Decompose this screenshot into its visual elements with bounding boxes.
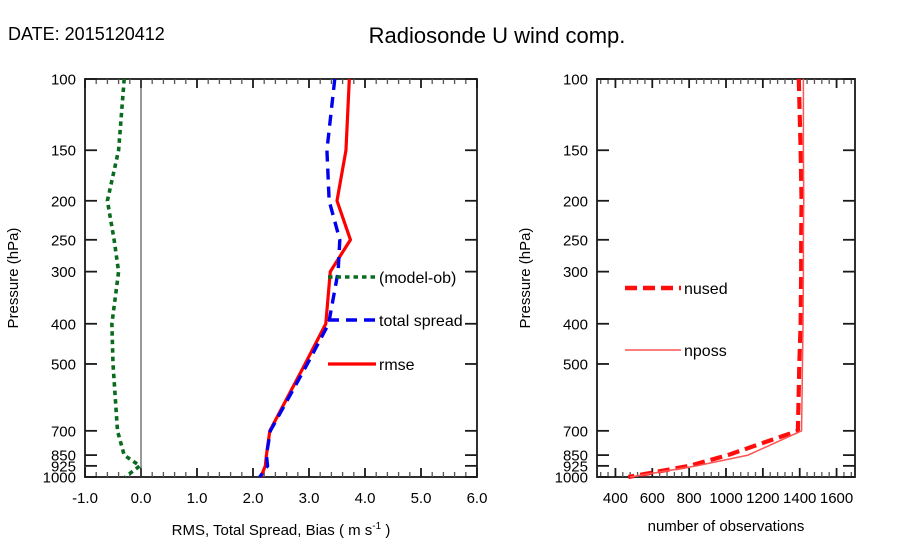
legend-label-nposs: nposs	[684, 343, 727, 360]
y-tick-label: 700	[51, 423, 76, 440]
legend-label--model-ob-: (model-ob)	[379, 270, 456, 287]
x-axis-title: RMS, Total Spread, Bias ( m s-1 )	[172, 521, 391, 539]
y-tick-label: 500	[563, 356, 588, 373]
date-label: DATE: 2015120412	[8, 24, 165, 44]
y-tick-label: 700	[563, 423, 588, 440]
figure-canvas: DATE: 2015120412 Radiosonde U wind comp.…	[0, 0, 900, 560]
x-tick-label: 600	[640, 490, 665, 507]
y-axis-title: Pressure (hPa)	[5, 228, 22, 329]
x-tick-label: 1.0	[187, 490, 208, 507]
x-tick-label: 1200	[746, 490, 779, 507]
y-tick-label: 200	[51, 193, 76, 210]
x-axis-title: number of observations	[648, 518, 805, 535]
x-tick-label: 5.0	[411, 490, 432, 507]
x-tick-label: 1600	[820, 490, 853, 507]
x-tick-label: -1.0	[72, 490, 98, 507]
y-tick-label: 150	[51, 143, 76, 160]
y-tick-label: 150	[563, 143, 588, 160]
x-tick-label: 800	[677, 490, 702, 507]
legend-label-rmse: rmse	[379, 357, 415, 374]
x-tick-label: 0.0	[131, 490, 152, 507]
y-tick-label: 250	[51, 232, 76, 249]
x-tick-label: 2.0	[243, 490, 264, 507]
x-tick-label: 6.0	[467, 490, 488, 507]
radiosonde-figure: DATE: 2015120412 Radiosonde U wind comp.…	[0, 0, 900, 560]
y-tick-label: 300	[51, 264, 76, 281]
x-tick-label: 3.0	[299, 490, 320, 507]
x-tick-label: 1000	[709, 490, 742, 507]
y-axis-title: Pressure (hPa)	[517, 228, 534, 329]
y-tick-label: 400	[563, 316, 588, 333]
y-tick-label: 100	[51, 72, 76, 89]
x-tick-label: 400	[603, 490, 628, 507]
y-tick-label: 100	[563, 72, 588, 89]
y-tick-label: 300	[563, 264, 588, 281]
y-tick-label: 200	[563, 193, 588, 210]
y-tick-label: 400	[51, 316, 76, 333]
legend-label-total-spread: total spread	[379, 313, 463, 330]
x-tick-label: 4.0	[355, 490, 376, 507]
legend-label-nused: nused	[684, 281, 728, 298]
y-tick-label: 250	[563, 232, 588, 249]
page-title: Radiosonde U wind comp.	[369, 23, 626, 48]
y-tick-label: 500	[51, 356, 76, 373]
y-tick-label: 1000	[555, 470, 588, 487]
y-tick-label: 1000	[43, 470, 76, 487]
x-tick-label: 1400	[783, 490, 816, 507]
